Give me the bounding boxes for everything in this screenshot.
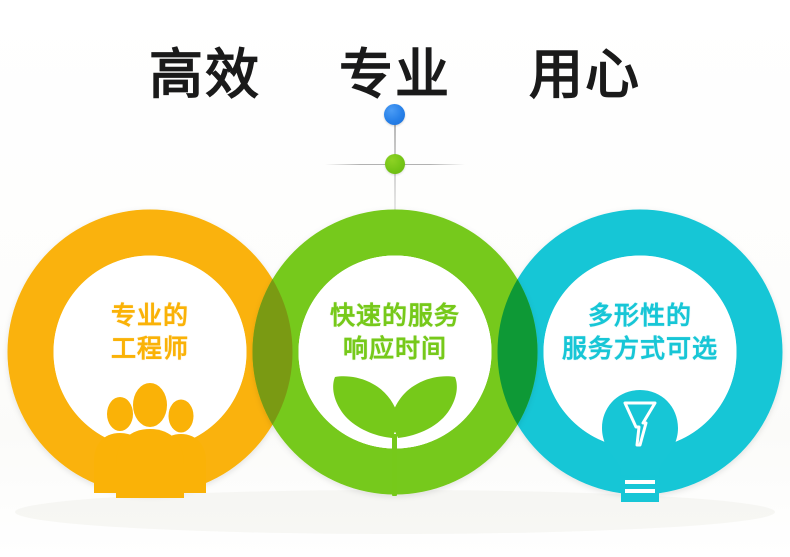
venn-diagram: [0, 0, 790, 557]
circle-label-service-modes-line-2: 服务方式可选: [525, 333, 755, 366]
circle-label-service-modes-line-1: 多形性的: [525, 300, 755, 333]
circle-label-service-modes: 多形性的 服务方式可选: [525, 300, 755, 366]
poster-canvas: 高效 专业 用心: [0, 0, 790, 557]
circle-label-response: 快速的服务 响应时间: [290, 300, 500, 366]
circle-label-engineers-line-2: 工程师: [50, 333, 250, 366]
circle-label-response-line-1: 快速的服务: [290, 300, 500, 333]
circle-label-response-line-2: 响应时间: [290, 333, 500, 366]
circle-label-engineers-line-1: 专业的: [50, 300, 250, 333]
circle-label-engineers: 专业的 工程师: [50, 300, 250, 366]
